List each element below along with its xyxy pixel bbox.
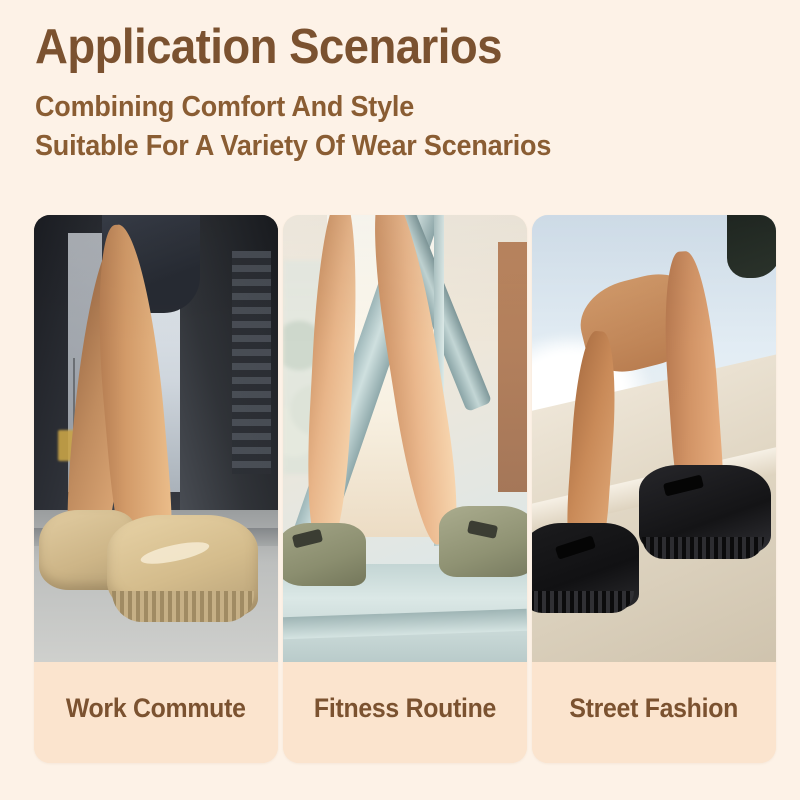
card-label-text: Work Commute	[66, 693, 246, 724]
header: Application Scenarios Combining Comfort …	[35, 22, 775, 167]
scenario-cards-row: Work Commute	[34, 215, 776, 763]
brick-wall	[498, 242, 527, 492]
building-right-windows	[232, 251, 271, 475]
black-sneaker-sole-right	[642, 537, 764, 559]
application-scenarios-page: Application Scenarios Combining Comfort …	[0, 0, 800, 800]
subtitle-block: Combining Comfort And Style Suitable For…	[35, 88, 775, 167]
sneaker-stripe	[140, 538, 211, 569]
scenario-card-work-commute[interactable]: Work Commute	[34, 215, 278, 763]
card-label-text: Fitness Routine	[314, 693, 496, 724]
card-label-street-fashion: Street Fashion	[532, 662, 776, 763]
scenario-card-fitness-routine[interactable]: Fitness Routine	[283, 215, 527, 763]
page-title: Application Scenarios	[35, 22, 723, 74]
scenario-card-street-fashion[interactable]: Street Fashion	[532, 215, 776, 763]
card-label-work-commute: Work Commute	[34, 662, 278, 763]
card-label-text: Street Fashion	[570, 693, 739, 724]
subtitle-line-1: Combining Comfort And Style	[35, 88, 723, 127]
dark-garment	[727, 215, 776, 278]
photo-work-commute	[34, 215, 278, 662]
photo-street-fashion	[532, 215, 776, 662]
photo-fitness-routine	[283, 215, 527, 662]
black-sneaker-sole-left	[532, 591, 634, 613]
card-label-fitness-routine: Fitness Routine	[283, 662, 527, 763]
olive-sneaker-right	[439, 506, 527, 578]
subtitle-line-2: Suitable For A Variety Of Wear Scenarios	[35, 127, 723, 166]
olive-sneaker-left	[283, 523, 366, 586]
sneaker-sole	[112, 591, 254, 622]
